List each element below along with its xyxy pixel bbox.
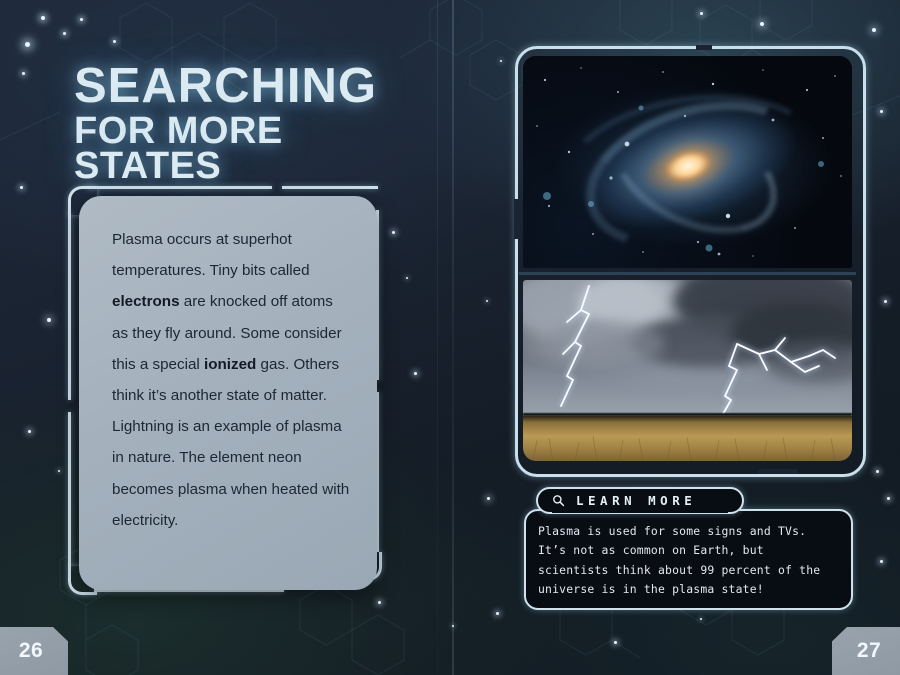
- tab-seam-mask: [552, 507, 728, 513]
- body-paragraph: Plasma occurs at superhot temperatures. …: [112, 224, 352, 536]
- page-title: SEARCHING FOR MORE STATES: [74, 64, 434, 184]
- page-number-left: 26: [0, 627, 68, 675]
- page-number-right: 27: [832, 627, 900, 675]
- title-line-2: FOR MORE STATES: [74, 114, 434, 184]
- title-line-1: SEARCHING: [74, 64, 434, 109]
- learn-more-text: Plasma is used for some signs and TVs. I…: [538, 522, 838, 600]
- body-text-panel: Plasma occurs at superhot temperatures. …: [79, 196, 377, 590]
- magnifier-icon: [552, 494, 565, 507]
- lightning-photo: [523, 280, 852, 461]
- book-spread: SEARCHING FOR MORE STATES Plasma occurs …: [0, 0, 900, 675]
- learn-more-label: LEARN MORE: [576, 493, 696, 508]
- galaxy-photo: [523, 56, 852, 268]
- photo-divider: [519, 272, 856, 275]
